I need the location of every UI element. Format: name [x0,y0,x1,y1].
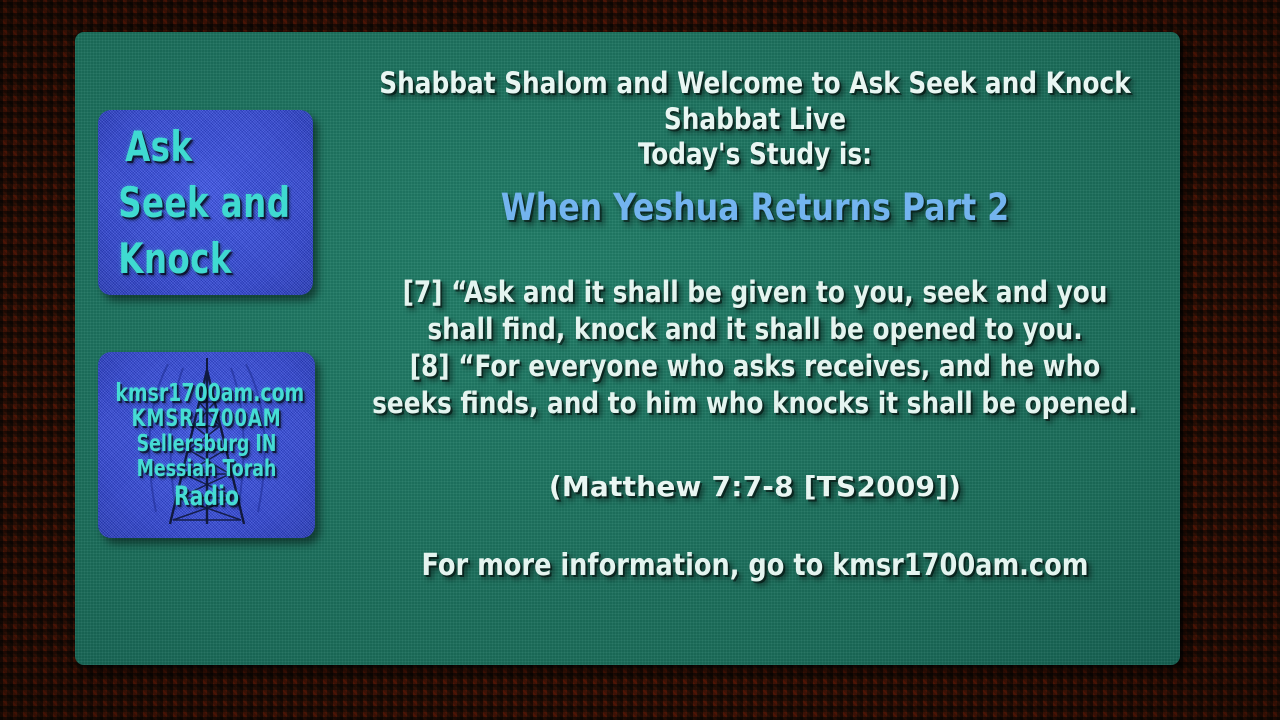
ask-logo-line-3: Knock [113,231,298,287]
logo-column: Ask Seek and Knock [98,110,338,538]
station-logo-line-radio: Radio [115,482,297,511]
content-panel: Ask Seek and Knock [75,32,1180,665]
ask-seek-and-knock-logo[interactable]: Ask Seek and Knock [98,110,313,295]
welcome-line-1: Shabbat Shalom and Welcome to Ask Seek a… [366,66,1145,102]
scripture-line: seeks finds, and to him who knocks it sh… [366,385,1145,422]
scripture-block: [7] “Ask and it shall be given to you, s… [345,274,1165,422]
slide-background: Ask Seek and Knock [0,0,1280,720]
ask-logo-text-group: Ask Seek and Knock [98,110,313,295]
scripture-citation: (Matthew 7:7-8 [TS2009]) [345,470,1165,503]
station-logo-text-group: kmsr1700am.com KMSR1700AM Sellersburg IN… [98,352,315,538]
scripture-line: [7] “Ask and it shall be given to you, s… [366,274,1145,311]
study-label: Today's Study is: [366,137,1145,173]
ask-logo-line-1: Ask [113,119,298,175]
welcome-line-2: Shabbat Live [366,102,1145,138]
more-information-line: For more information, go to kmsr1700am.c… [366,548,1145,583]
station-logo-line-callsign: KMSR1700AM [115,406,297,432]
study-title: When Yeshua Returns Part 2 [366,187,1145,230]
scripture-line: [8] “For everyone who asks receives, and… [366,348,1145,385]
kmsr-radio-logo[interactable]: kmsr1700am.com KMSR1700AM Sellersburg IN… [98,352,315,538]
ask-logo-line-2: Seek and [113,175,298,231]
slide-text-column: Shabbat Shalom and Welcome to Ask Seek a… [345,66,1165,583]
station-logo-line-format: Messiah Torah [115,457,297,482]
scripture-line: shall find, knock and it shall be opened… [366,311,1145,348]
station-logo-line-location: Sellersburg IN [115,432,297,457]
station-logo-line-website: kmsr1700am.com [115,379,297,406]
